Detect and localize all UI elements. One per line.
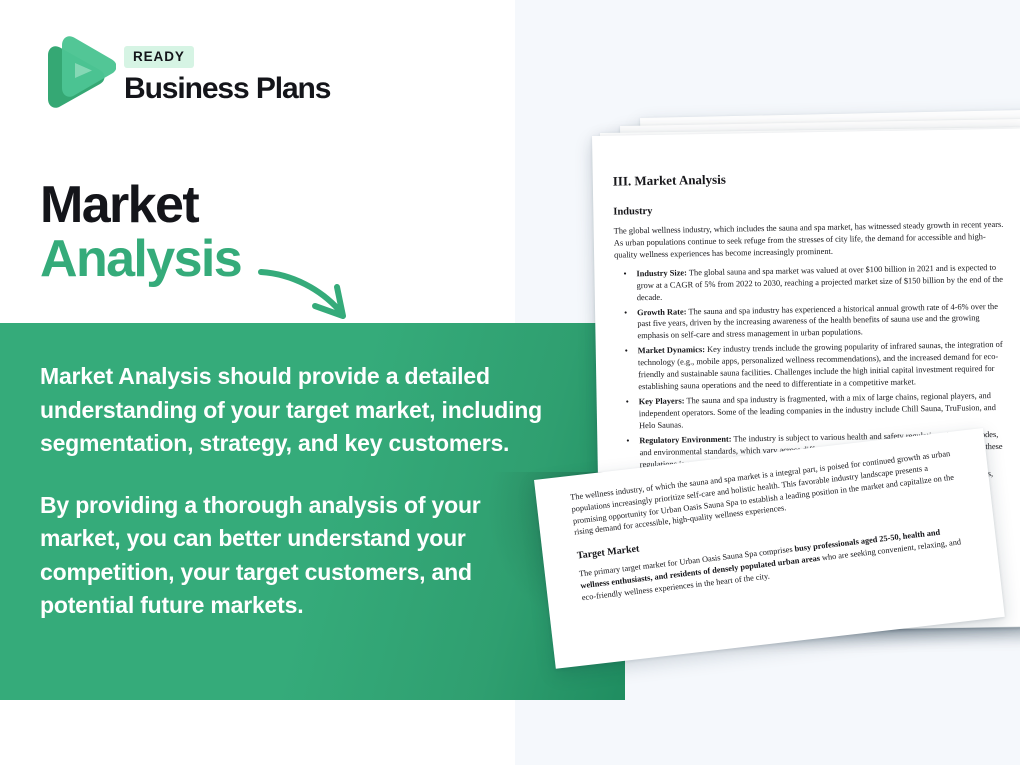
bullet-term: Market Dynamics: [638,345,705,355]
bullet-text: The sauna and spa industry has experienc… [637,301,998,340]
document-front-content: The wellness industry, of which the saun… [570,447,973,611]
slide-canvas: READY Business Plans Market Analysis Mar… [0,0,1020,765]
document-heading: III. Market Analysis [613,167,1005,190]
document-bullet: Growth Rate: The sauna and spa industry … [615,300,1008,343]
document-stack: III. Market Analysis Industry The global… [0,0,1020,765]
bullet-term: Key Players: [639,396,685,406]
document-bullet: Key Players: The sauna and spa industry … [617,390,1010,433]
bullet-term: Growth Rate: [637,307,687,317]
document-bullet: Market Dynamics: Key industry trends inc… [616,339,1009,394]
bullet-term: Industry Size: [636,268,687,278]
document-section-industry: Industry [613,200,1005,218]
bullet-term: Regulatory Environment: [639,434,731,445]
document-intro-paragraph: The global wellness industry, which incl… [614,219,1007,262]
document-bullet: Industry Size: The global sauna and spa … [614,262,1007,305]
bullet-text: The global sauna and spa market was valu… [637,263,1003,302]
bullet-text: The sauna and spa industry is fragmented… [639,391,996,430]
